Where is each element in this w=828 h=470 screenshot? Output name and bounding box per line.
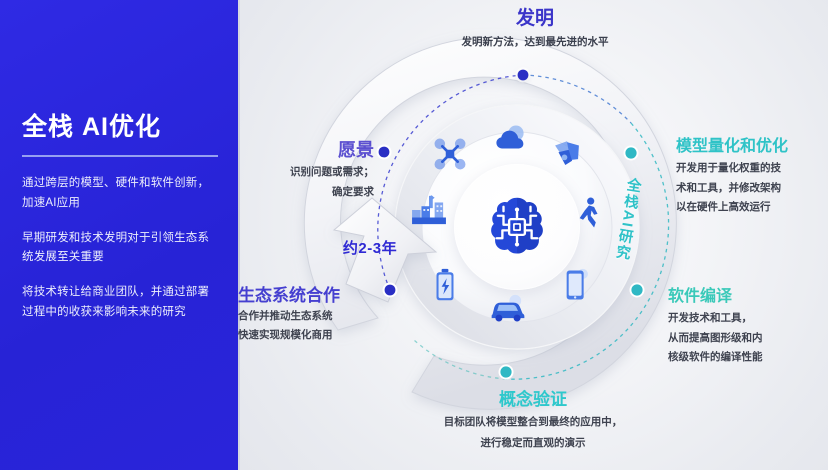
smart-city-icon <box>410 194 448 226</box>
stage-title-compilation: 软件编译 <box>668 288 828 307</box>
stage-desc-quantization-line1: 开发用于量化权重的技 <box>676 161 828 177</box>
stage-desc-quantization-line2: 术和工具，并修改架构 <box>676 181 828 197</box>
stage-desc-poc-line2: 进行稳定而直观的演示 <box>383 436 683 452</box>
battery-icon <box>433 268 457 302</box>
marker-quantization <box>625 147 636 158</box>
car-icon <box>488 294 528 324</box>
panel-paragraph-3: 将技术转让给商业团队，并通过部署过程中的收获来影响未来的研究 <box>22 283 218 323</box>
page-title: 全栈 AI优化 <box>22 112 218 142</box>
smartphone-icon <box>563 268 589 302</box>
panel-paragraph-1: 通过跨层的模型、硬件和软件创新，加速AI应用 <box>22 174 218 214</box>
diagram-stage: 发明 发明新方法，达到最先进的水平 愿景 识别问题或需求； 确定要求 模型量化和… <box>238 0 828 470</box>
stage-title-invention: 发明 <box>360 8 710 30</box>
marker-poc <box>500 366 511 377</box>
title-divider <box>22 155 218 157</box>
stage-desc-ecosystem-line1: 合作并推动生态系统 <box>238 309 430 325</box>
stage-label-vision: 愿景 识别问题或需求； 确定要求 <box>238 140 374 201</box>
stage-label-proof-of-concept: 概念验证 目标团队将模型整合到最终的应用中， 进行稳定而直观的演示 <box>383 390 683 452</box>
stage-desc-compilation-line2: 从而提高图形级和内 <box>668 331 828 347</box>
stage-title-ecosystem: 生态系统合作 <box>238 286 430 306</box>
left-panel-content: 全栈 AI优化 通过跨层的模型、硬件和软件创新，加速AI应用 早期研发和技术发明… <box>22 112 218 323</box>
panel-paragraph-2: 早期研发和技术发明对于引领生态系统发展至关重要 <box>22 229 218 269</box>
stage-desc-vision-line1: 识别问题或需求； <box>238 165 374 181</box>
stage-title-proof-of-concept: 概念验证 <box>383 390 683 410</box>
stage-label-ecosystem: 生态系统合作 合作并推动生态系统 快速实现规模化商用 <box>238 286 430 344</box>
stage-desc-ecosystem-line2: 快速实现规模化商用 <box>238 328 430 344</box>
stage-desc-poc-line1: 目标团队将模型整合到最终的应用中， <box>383 415 683 431</box>
drone-icon <box>433 137 467 171</box>
ai-brain-chip-icon <box>481 191 553 263</box>
stage-desc-compilation-line3: 核级软件的编译性能 <box>668 350 828 366</box>
marker-vision <box>379 147 390 158</box>
cloud-icon <box>493 123 527 157</box>
stage-desc-invention: 发明新方法，达到最先进的水平 <box>360 35 710 51</box>
stage-label-compilation: 软件编译 开发技术和工具， 从而提高图形级和内 核级软件的编译性能 <box>668 288 828 366</box>
timespan-label: 约2-3年 <box>324 237 416 258</box>
pedestrian-icon <box>575 196 603 230</box>
marker-invention <box>518 70 529 81</box>
robotic-arm-icon <box>550 137 584 171</box>
stage-label-quantization: 模型量化和优化 开发用于量化权重的技 术和工具，并修改架构 以在硬件上高效运行 <box>676 138 828 216</box>
stage-desc-compilation-line1: 开发技术和工具， <box>668 311 828 327</box>
stage-label-invention: 发明 发明新方法，达到最先进的水平 <box>360 8 710 51</box>
stage-title-vision: 愿景 <box>238 140 374 161</box>
left-info-panel: 全栈 AI优化 通过跨层的模型、硬件和软件创新，加速AI应用 早期研发和技术发明… <box>0 0 238 470</box>
center-hub <box>454 164 580 290</box>
stage-title-quantization: 模型量化和优化 <box>676 138 828 157</box>
marker-compilation <box>631 284 642 295</box>
stage-desc-quantization-line3: 以在硬件上高效运行 <box>676 200 828 216</box>
stage-desc-vision-line2: 确定要求 <box>238 185 374 201</box>
